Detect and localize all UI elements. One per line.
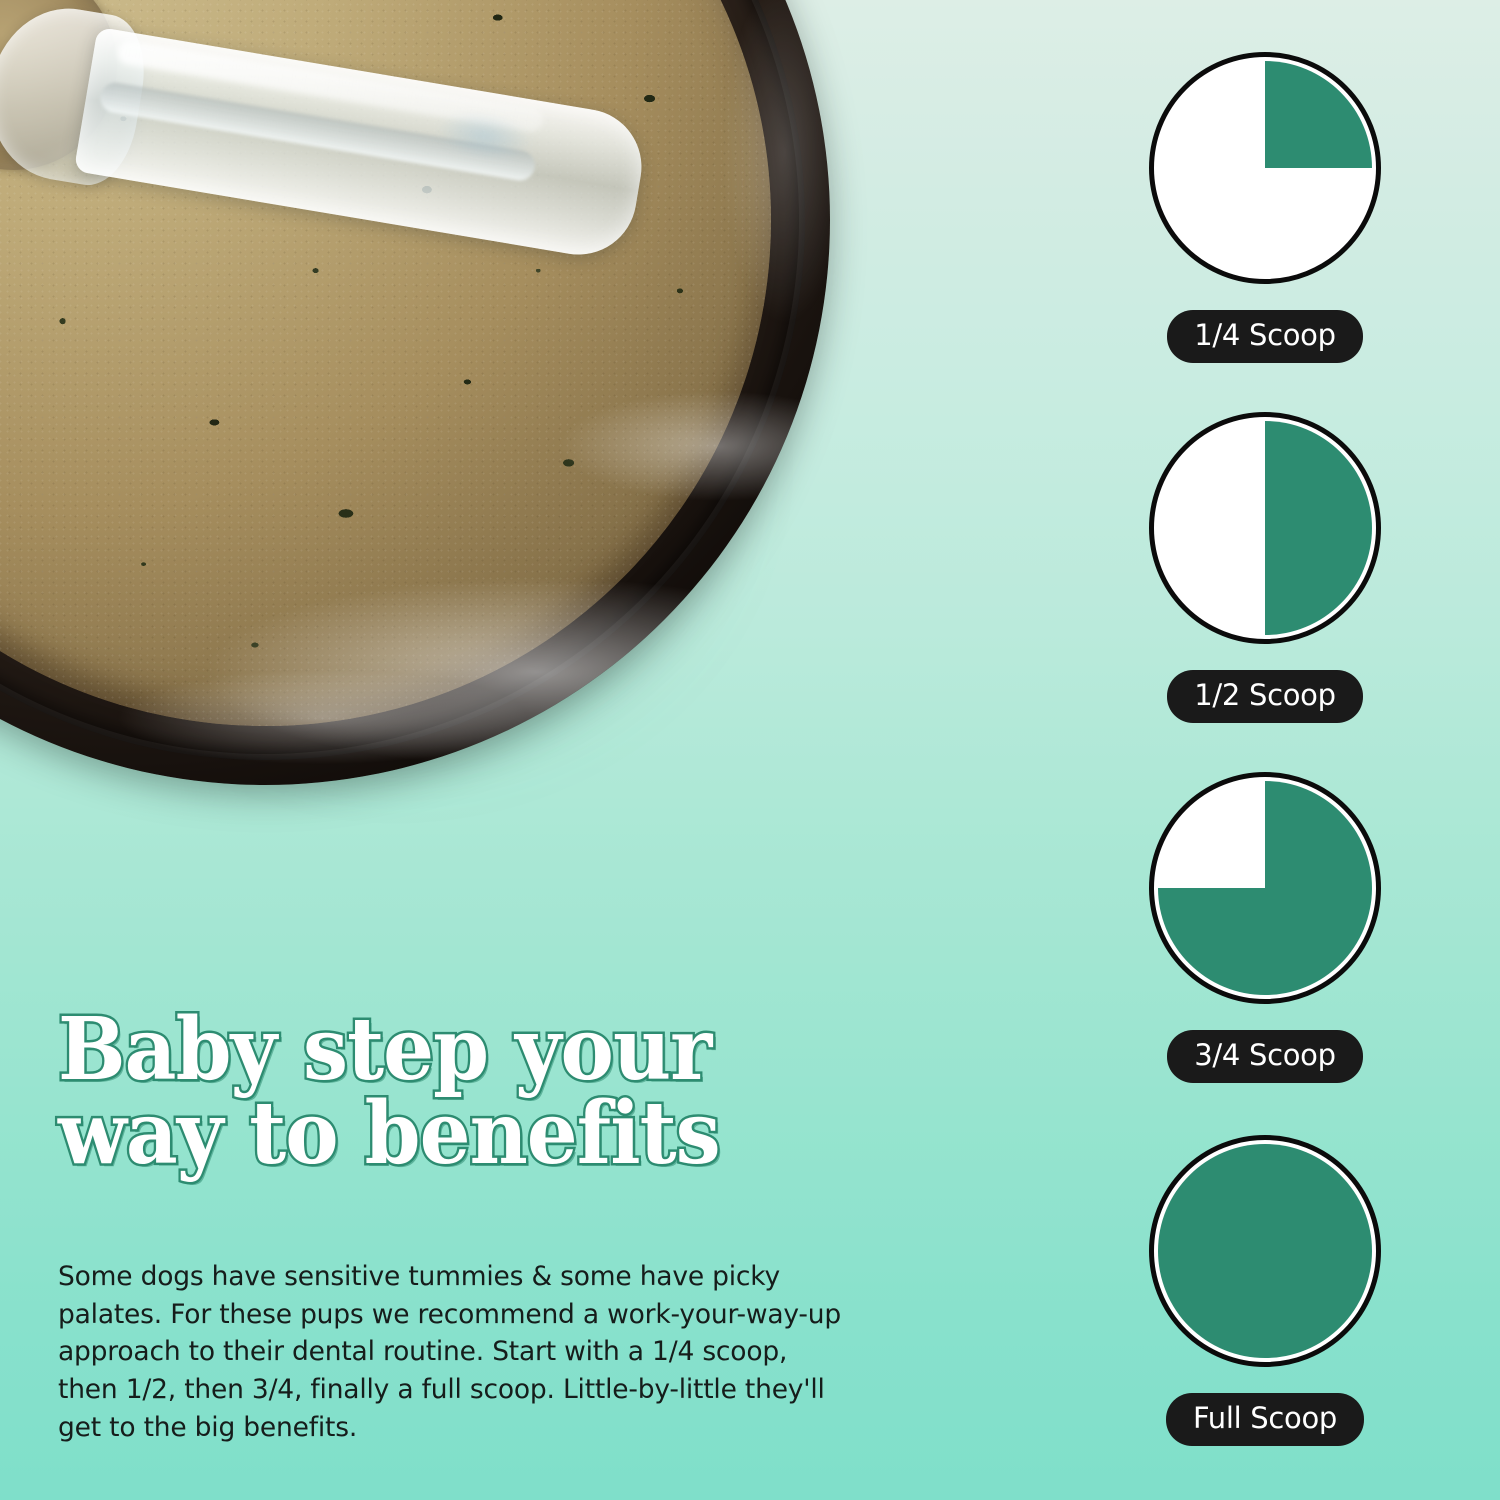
half-pie-wedge <box>1158 421 1372 635</box>
quarter-pie-wedge <box>1158 61 1372 275</box>
infographic-canvas: Baby step your way to benefits Some dogs… <box>0 0 1500 1500</box>
scoop-step-three-quarter: 3/4 Scoop <box>1120 772 1410 1083</box>
powder-surface <box>0 0 771 726</box>
scoop-step-half: 1/2 Scoop <box>1120 412 1410 723</box>
page-title: Baby step your way to benefits <box>58 1008 802 1177</box>
scoop-step-label: Full Scoop <box>1166 1393 1364 1446</box>
three-quarter-pie-icon <box>1149 772 1381 1004</box>
scoop-step-quarter: 1/4 Scoop <box>1120 52 1410 363</box>
half-pie-icon <box>1149 412 1381 644</box>
three-quarter-pie-wedge <box>1158 781 1372 995</box>
scoop-step-label: 3/4 Scoop <box>1167 1030 1362 1083</box>
scoop-step-label: 1/2 Scoop <box>1167 670 1362 723</box>
product-photo <box>0 0 940 880</box>
scoop-step-full: Full Scoop <box>1120 1135 1410 1446</box>
full-pie-icon <box>1149 1135 1381 1367</box>
jar-container <box>0 0 830 785</box>
quarter-pie-icon <box>1149 52 1381 284</box>
scoop-step-label: 1/4 Scoop <box>1167 310 1362 363</box>
full-pie-wedge <box>1158 1144 1372 1358</box>
scoop-steps-list: 1/4 Scoop 1/2 Scoop 3/4 Scoop Full Scoop <box>1120 0 1410 1500</box>
body-paragraph: Some dogs have sensitive tummies & some … <box>58 1258 848 1446</box>
